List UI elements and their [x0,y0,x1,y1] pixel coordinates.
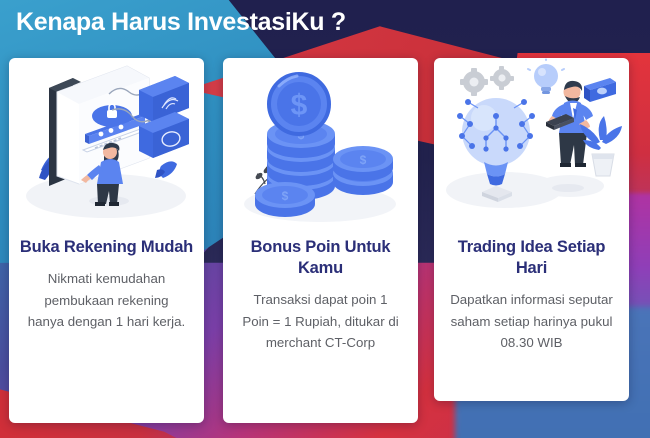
svg-text:$: $ [360,153,367,167]
idea-lightbulb-businessman-illustration [434,58,629,233]
coin-stacks-illustration: $ $ $ [223,58,418,233]
feature-card-trading-idea[interactable]: Trading Idea Setiap Hari Dapatkan inform… [434,58,629,401]
svg-text:$: $ [291,89,308,122]
svg-text:$: $ [282,189,289,203]
mobile-login-security-illustration [9,58,204,233]
feature-card-bonus-poin[interactable]: $ $ $ [223,58,418,423]
card-title: Trading Idea Setiap Hari [434,237,629,279]
feature-card-buka-rekening[interactable]: Buka Rekening Mudah Nikmati kemudahan pe… [9,58,204,423]
card-body: Transaksi dapat poin 1 Poin = 1 Rupiah, … [223,289,418,354]
section-heading: Kenapa Harus InvestasiKu ? [16,8,346,37]
feature-card-list: Buka Rekening Mudah Nikmati kemudahan pe… [0,0,650,438]
promo-section: Kenapa Harus InvestasiKu ? [0,0,650,438]
card-title: Buka Rekening Mudah [10,237,203,258]
card-body: Nikmati kemudahan pembukaan rekening han… [9,268,204,333]
card-body: Dapatkan informasi seputar saham setiap … [434,289,629,354]
card-title: Bonus Poin Untuk Kamu [223,237,418,279]
